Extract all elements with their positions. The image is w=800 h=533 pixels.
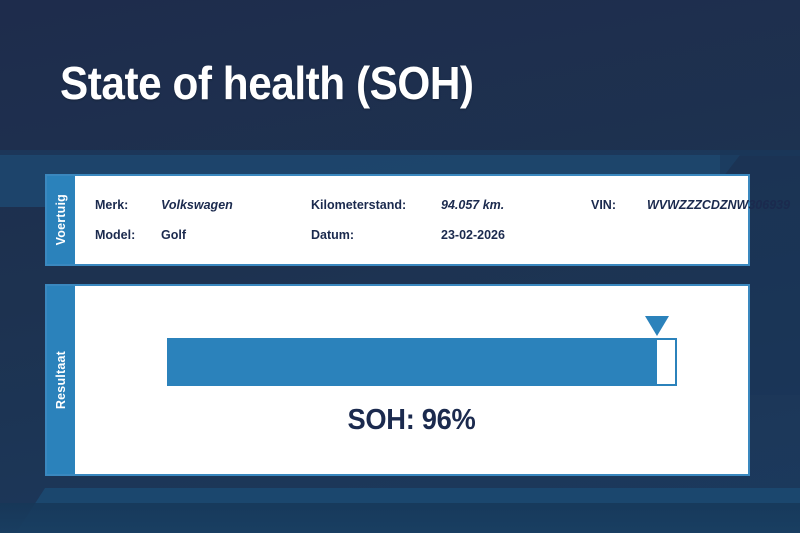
field-value-kilometerstand: 94.057 km. [441,198,591,212]
background-band-bottom-shadow [0,503,800,533]
result-card-tab-label: Resultaat [54,351,68,409]
field-value-datum: 23-02-2026 [441,228,591,242]
slide-root: State of health (SOH) Voertuig Merk: Vol… [0,0,800,533]
soh-value-label: SOH: 96% [95,404,728,437]
vehicle-card-tab: Voertuig [47,176,75,264]
field-value-vin: WVWZZZCDZNW306939 [647,198,790,212]
soh-gauge [167,338,677,386]
vehicle-card-tab-label: Voertuig [54,194,68,245]
field-label-kilometerstand: Kilometerstand: [311,198,441,212]
result-card-body: SOH: 96% [75,286,748,474]
vehicle-card-body: Merk: Volkswagen Kilometerstand: 94.057 … [75,176,748,264]
field-label-vin: VIN: [591,198,647,212]
field-label-model: Model: [95,228,161,242]
result-card-tab: Resultaat [47,286,75,474]
vehicle-info-card: Voertuig Merk: Volkswagen Kilometerstand… [45,174,750,266]
triangle-down-icon [645,316,669,336]
vehicle-field-grid: Merk: Volkswagen Kilometerstand: 94.057 … [75,176,748,264]
field-label-merk: Merk: [95,198,161,212]
result-card: Resultaat SOH: 96% [45,284,750,476]
page-title: State of health (SOH) [60,56,474,110]
field-value-merk: Volkswagen [161,198,311,212]
field-label-datum: Datum: [311,228,441,242]
soh-gauge-fill [167,338,657,386]
field-value-model: Golf [161,228,311,242]
